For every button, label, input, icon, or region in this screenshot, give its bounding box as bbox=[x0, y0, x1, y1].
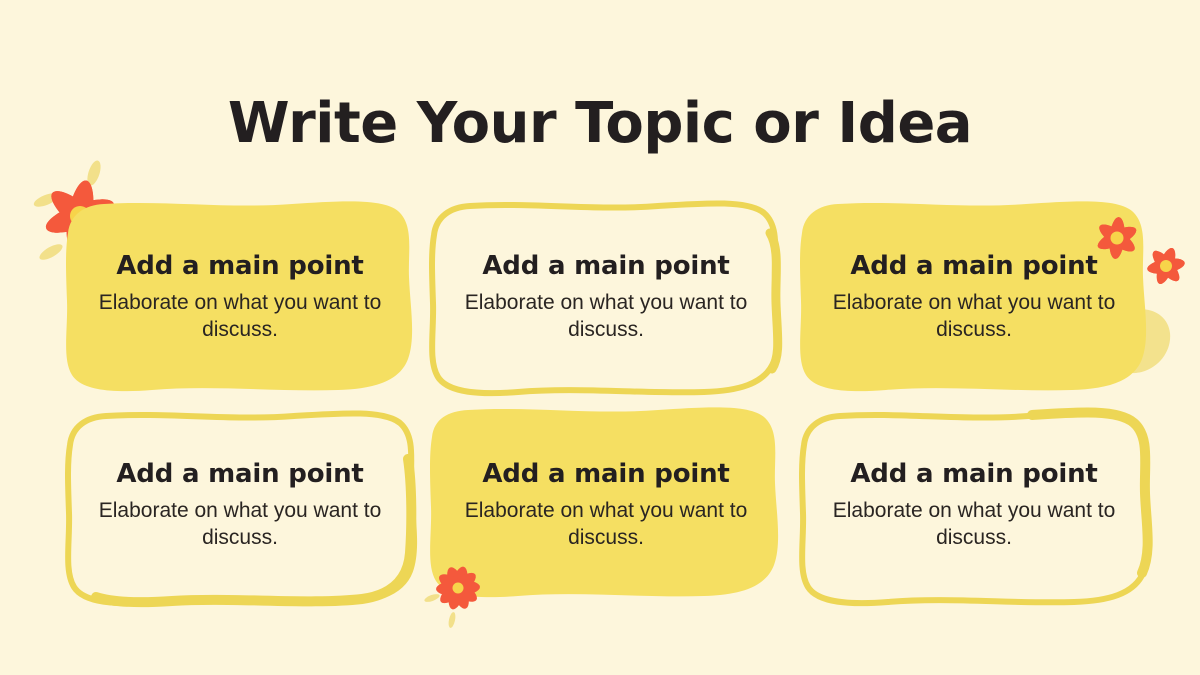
card-1-body: Elaborate on what you want to discuss. bbox=[95, 290, 385, 344]
card-1[interactable]: Add a main point Elaborate on what you w… bbox=[66, 205, 414, 391]
card-grid: Add a main point Elaborate on what you w… bbox=[0, 205, 1200, 625]
card-5[interactable]: Add a main point Elaborate on what you w… bbox=[432, 413, 780, 599]
card-4-text: Add a main point Elaborate on what you w… bbox=[66, 413, 414, 599]
card-1-heading: Add a main point bbox=[116, 252, 363, 282]
card-4[interactable]: Add a main point Elaborate on what you w… bbox=[66, 413, 414, 599]
slide-canvas: Write Your Topic or Idea bbox=[0, 0, 1200, 675]
card-5-body: Elaborate on what you want to discuss. bbox=[461, 498, 751, 552]
card-3-heading: Add a main point bbox=[850, 252, 1097, 282]
card-2-text: Add a main point Elaborate on what you w… bbox=[432, 205, 780, 391]
card-2[interactable]: Add a main point Elaborate on what you w… bbox=[432, 205, 780, 391]
card-6-heading: Add a main point bbox=[850, 460, 1097, 490]
card-6-body: Elaborate on what you want to discuss. bbox=[829, 498, 1119, 552]
card-6[interactable]: Add a main point Elaborate on what you w… bbox=[800, 413, 1148, 599]
card-4-body: Elaborate on what you want to discuss. bbox=[95, 498, 385, 552]
card-5-text: Add a main point Elaborate on what you w… bbox=[432, 413, 780, 599]
card-3-body: Elaborate on what you want to discuss. bbox=[829, 290, 1119, 344]
card-6-text: Add a main point Elaborate on what you w… bbox=[800, 413, 1148, 599]
card-3[interactable]: Add a main point Elaborate on what you w… bbox=[800, 205, 1148, 391]
card-5-heading: Add a main point bbox=[482, 460, 729, 490]
card-4-heading: Add a main point bbox=[116, 460, 363, 490]
card-2-heading: Add a main point bbox=[482, 252, 729, 282]
card-1-text: Add a main point Elaborate on what you w… bbox=[66, 205, 414, 391]
card-3-text: Add a main point Elaborate on what you w… bbox=[800, 205, 1148, 391]
page-title: Write Your Topic or Idea bbox=[0, 94, 1200, 154]
card-2-body: Elaborate on what you want to discuss. bbox=[461, 290, 751, 344]
